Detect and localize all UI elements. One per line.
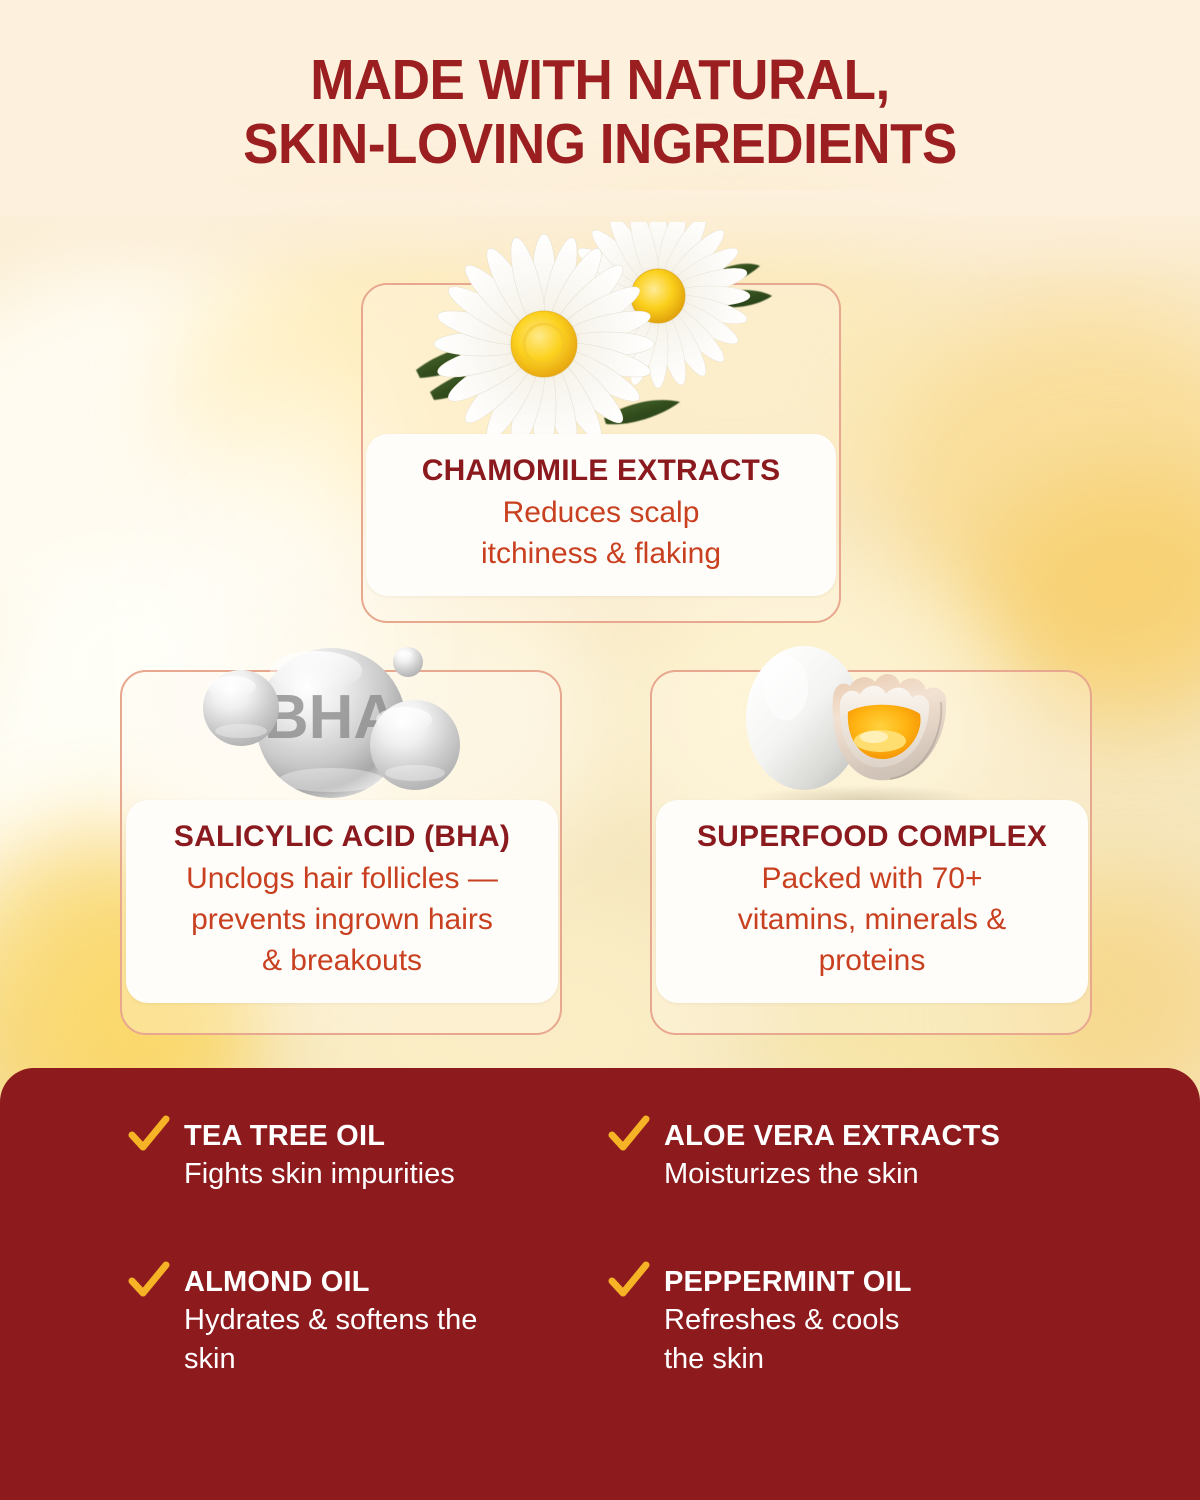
bha-molecule-spheres-image: BHA xyxy=(188,638,478,823)
benefits-list: TEA TREE OIL Fights skin impurities ALOE… xyxy=(0,1118,1200,1379)
cracked-egg-image xyxy=(728,640,1003,820)
benefit-title: ALMOND OIL xyxy=(184,1264,602,1300)
ingredient-description: Packed with 70+ vitamins, minerals & pro… xyxy=(670,858,1074,981)
ingredient-title: CHAMOMILE EXTRACTS xyxy=(380,452,822,490)
ingredient-description: Reduces scalp itchiness & flaking xyxy=(380,492,822,574)
chamomile-daisies-image xyxy=(408,222,788,437)
benefit-description: Moisturizes the skin xyxy=(664,1155,1082,1194)
page-title: MADE WITH NATURAL, SKIN-LOVING INGREDIEN… xyxy=(42,48,1158,176)
benefit-description: Fights skin impurities xyxy=(184,1155,602,1194)
benefit-item-peppermint-oil: PEPPERMINT OIL Refreshes & cools the ski… xyxy=(602,1264,1082,1379)
benefit-title: PEPPERMINT OIL xyxy=(664,1264,1082,1300)
benefit-description: Refreshes & cools the skin xyxy=(664,1301,1082,1379)
ingredient-title: SALICYLIC ACID (BHA) xyxy=(140,818,544,856)
benefit-description: Hydrates & softens the skin xyxy=(184,1301,602,1379)
ingredient-card-chamomile: CHAMOMILE EXTRACTS Reduces scalp itchine… xyxy=(366,434,836,596)
benefit-item-tea-tree-oil: TEA TREE OIL Fights skin impurities xyxy=(122,1118,602,1194)
ingredient-title: SUPERFOOD COMPLEX xyxy=(670,818,1074,856)
benefit-title: TEA TREE OIL xyxy=(184,1118,602,1154)
check-icon xyxy=(128,1114,170,1156)
check-icon xyxy=(608,1114,650,1156)
benefit-item-almond-oil: ALMOND OIL Hydrates & softens the skin xyxy=(122,1264,602,1379)
ingredient-description: Unclogs hair follicles — prevents ingrow… xyxy=(140,858,544,981)
check-icon xyxy=(128,1260,170,1302)
ingredient-card-superfood: SUPERFOOD COMPLEX Packed with 70+ vitami… xyxy=(656,800,1088,1003)
check-icon xyxy=(608,1260,650,1302)
ingredient-card-salicylic: SALICYLIC ACID (BHA) Unclogs hair follic… xyxy=(126,800,558,1003)
benefit-title: ALOE VERA EXTRACTS xyxy=(664,1118,1082,1154)
benefit-item-aloe-vera-extracts: ALOE VERA EXTRACTS Moisturizes the skin xyxy=(602,1118,1082,1194)
